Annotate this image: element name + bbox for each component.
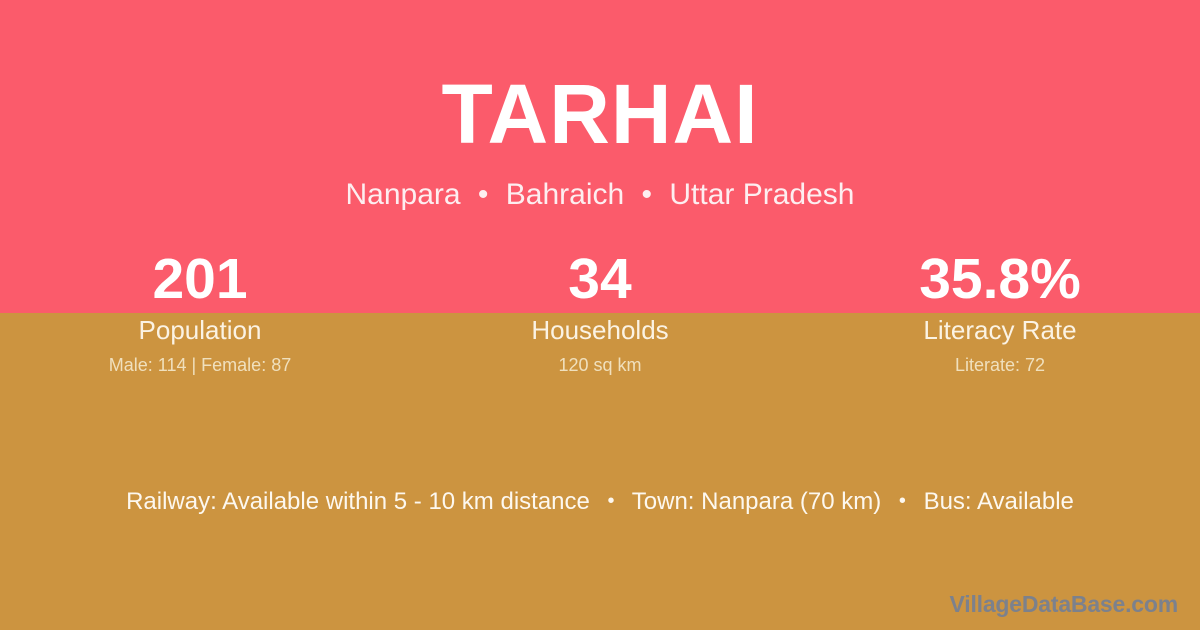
stat-sublabel: Literate: 72: [800, 354, 1200, 376]
breadcrumb-item-state: Uttar Pradesh: [669, 178, 854, 211]
site-watermark: VillageDataBase.com: [950, 591, 1178, 618]
bullet-separator-icon: •: [888, 486, 917, 516]
stat-label: Population: [0, 315, 400, 345]
stat-value: 201: [0, 248, 400, 310]
breadcrumb-item-district: Bahraich: [506, 178, 624, 211]
bullet-separator-icon: •: [633, 178, 662, 211]
info-item-town: Town: Nanpara (70 km): [632, 488, 881, 515]
card-header: TARHAI Nanpara • Bahraich • Uttar Prades…: [0, 0, 1200, 211]
stat-population: 201 Population Male: 114 | Female: 87: [0, 248, 400, 376]
stats-row: 201 Population Male: 114 | Female: 87 34…: [0, 248, 1200, 376]
breadcrumb: Nanpara • Bahraich • Uttar Pradesh: [0, 156, 1200, 211]
stat-label: Households: [400, 315, 800, 345]
stat-households: 34 Households 120 sq km: [400, 248, 800, 376]
info-item-railway: Railway: Available within 5 - 10 km dist…: [126, 488, 590, 515]
stat-value: 34: [400, 248, 800, 310]
stat-label: Literacy Rate: [800, 315, 1200, 345]
stat-sublabel: 120 sq km: [400, 354, 800, 376]
stat-value: 35.8%: [800, 248, 1200, 310]
connectivity-info-line: Railway: Available within 5 - 10 km dist…: [0, 486, 1200, 517]
stat-sublabel: Male: 114 | Female: 87: [0, 354, 400, 376]
breadcrumb-item-block: Nanpara: [346, 178, 461, 211]
bullet-separator-icon: •: [597, 486, 626, 516]
info-item-bus: Bus: Available: [924, 488, 1074, 515]
bullet-separator-icon: •: [469, 178, 498, 211]
village-info-card: TARHAI Nanpara • Bahraich • Uttar Prades…: [0, 0, 1200, 630]
stat-literacy-rate: 35.8% Literacy Rate Literate: 72: [800, 248, 1200, 376]
page-title: TARHAI: [0, 0, 1200, 156]
